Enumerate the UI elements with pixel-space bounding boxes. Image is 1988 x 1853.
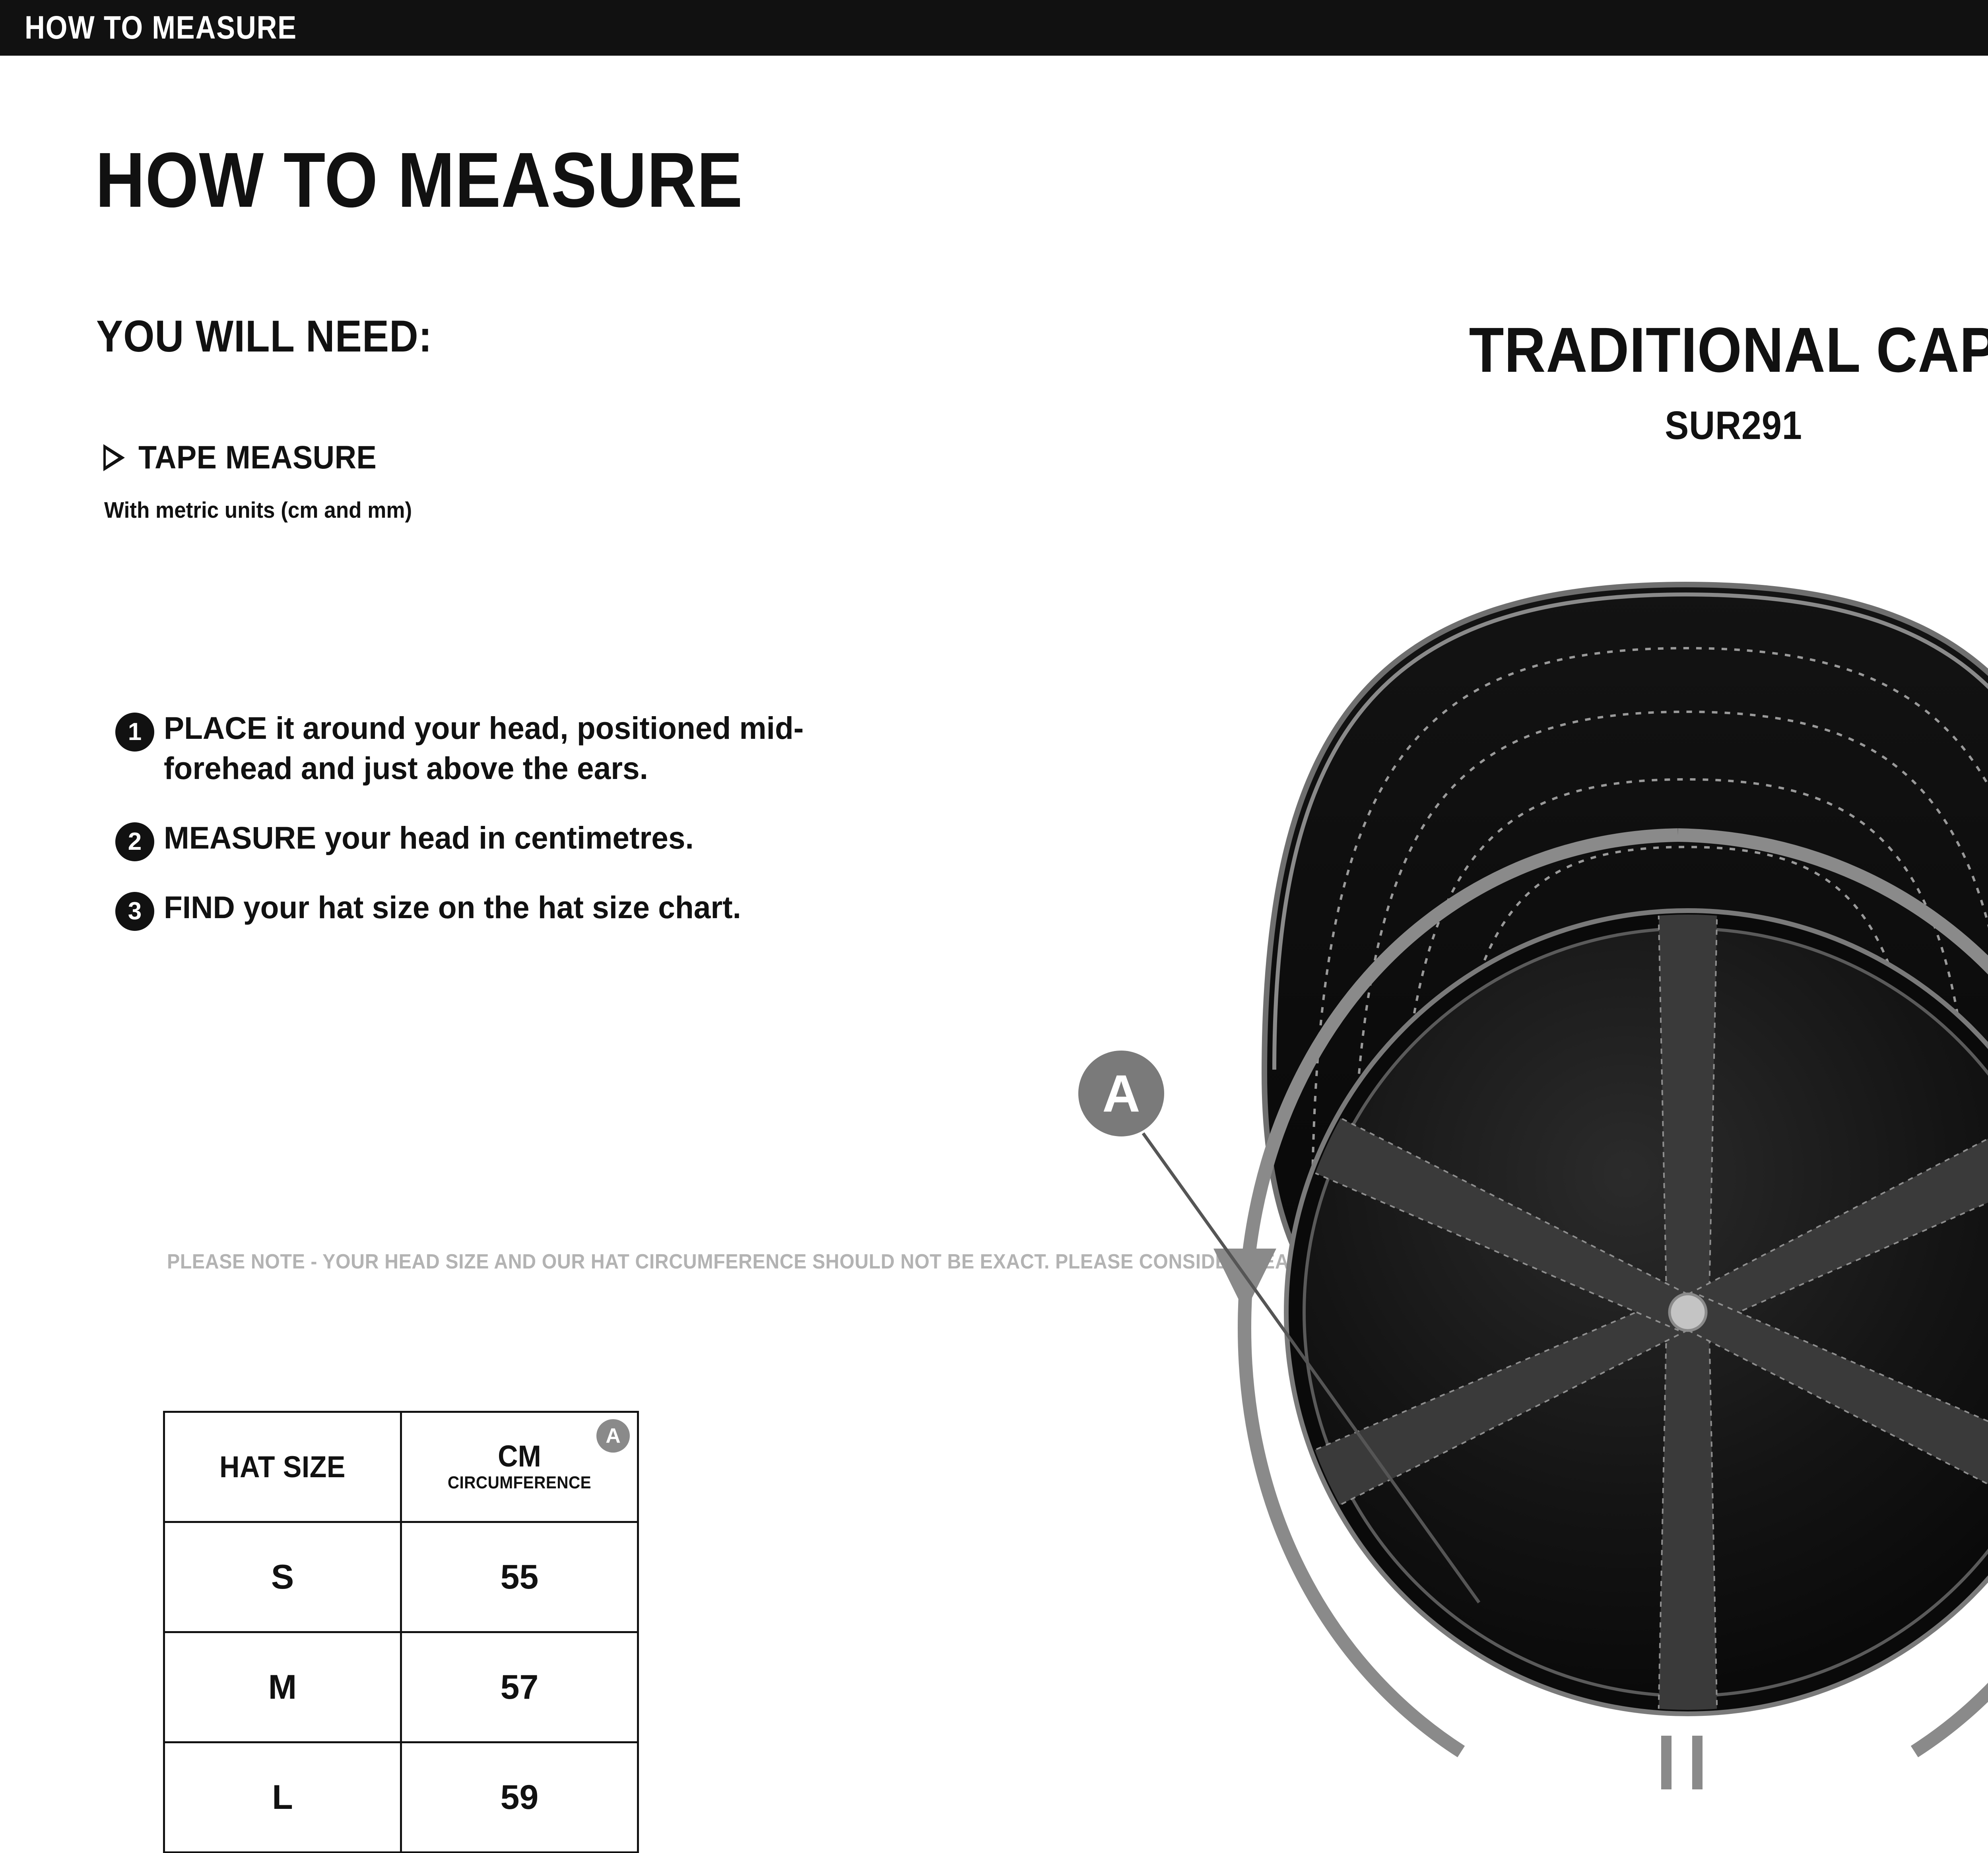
- step-text: PLACE it around your head, positioned mi…: [164, 708, 819, 788]
- step-item: 1 PLACE it around your head, positioned …: [115, 708, 839, 788]
- step-text: MEASURE your head in centimetres.: [164, 818, 819, 858]
- product-code: SUR291: [1286, 406, 1988, 445]
- cell-cm: 57: [401, 1632, 638, 1742]
- header-title: HOW TO MEASURE: [25, 12, 297, 44]
- step-item: 2 MEASURE your head in centimetres.: [115, 818, 839, 858]
- step-number-badge: 3: [115, 892, 154, 931]
- column-header-sublabel: CIRCUMFERENCE: [412, 1472, 628, 1493]
- triangle-right-icon: [103, 444, 125, 471]
- step-item: 3 FIND your hat size on the hat size cha…: [115, 887, 839, 927]
- measurement-endcap-left: [1661, 1736, 1672, 1789]
- table-header-row: HAT SIZE A CM CIRCUMFERENCE: [164, 1412, 638, 1522]
- cell-hat-size: S: [164, 1522, 401, 1632]
- measurement-marker-label: A: [1102, 1064, 1140, 1123]
- page-header-bar: HOW TO MEASURE SURRIDGE: [0, 0, 1988, 56]
- step-text: FIND your hat size on the hat size chart…: [164, 887, 819, 927]
- measurement-endcap-right: [1692, 1736, 1703, 1789]
- column-header-label: HAT SIZE: [175, 1450, 391, 1484]
- cap-diagram-svg: A: [1074, 557, 1988, 1853]
- cell-hat-size: L: [164, 1742, 401, 1853]
- table-row: L 59: [164, 1742, 638, 1853]
- cell-cm: 55: [401, 1522, 638, 1632]
- column-header-label: CM: [412, 1441, 628, 1472]
- hat-size-chart: HAT SIZE A CM CIRCUMFERENCE S 55 M 57 L …: [163, 1411, 639, 1853]
- product-title: TRADITIONAL CAP: [1286, 318, 1988, 382]
- tape-measure-label: TAPE MEASURE: [138, 441, 377, 474]
- cell-cm: 59: [401, 1742, 638, 1853]
- page-title: HOW TO MEASURE: [95, 141, 743, 219]
- table-row: M 57: [164, 1632, 638, 1742]
- step-number-badge: 1: [115, 713, 154, 752]
- crown-button: [1670, 1294, 1706, 1331]
- steps-list: 1 PLACE it around your head, positioned …: [115, 708, 839, 957]
- you-will-need-heading: YOU WILL NEED:: [96, 314, 432, 359]
- cap-illustration: A: [1074, 557, 1988, 1853]
- how-to-measure-page: HOW TO MEASURE SURRIDGE HOW TO MEASURE Y…: [0, 0, 1988, 1853]
- measurement-arrow-left: [1213, 1249, 1276, 1312]
- tape-measure-note: With metric units (cm and mm): [104, 497, 412, 523]
- header-cell-cm: A CM CIRCUMFERENCE: [401, 1412, 638, 1522]
- cell-hat-size: M: [164, 1632, 401, 1742]
- step-number-badge: 2: [115, 822, 154, 861]
- header-cell-hat-size: HAT SIZE: [164, 1412, 401, 1522]
- table-row: S 55: [164, 1522, 638, 1632]
- tape-measure-item: TAPE MEASURE: [103, 441, 397, 474]
